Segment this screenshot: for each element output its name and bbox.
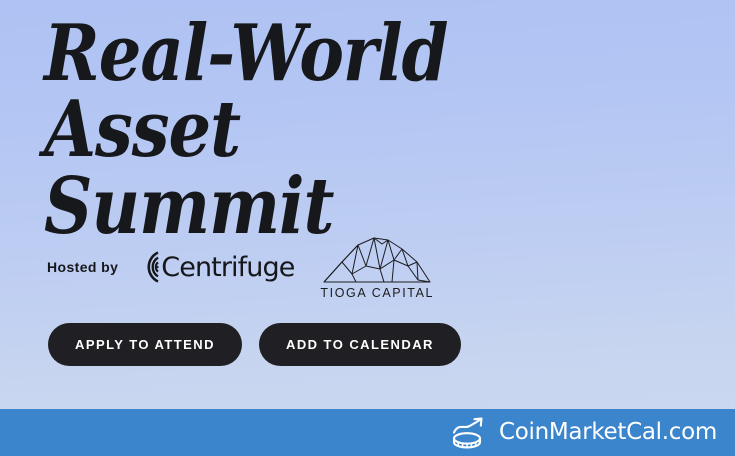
coinmarketcal-brand[interactable]: CoinMarketCal.com	[449, 416, 717, 450]
centrifuge-wordmark: Centrifuge	[161, 254, 294, 281]
cta-button-row: Apply to Attend Add to Calendar	[48, 323, 461, 366]
apply-to-attend-button[interactable]: Apply to Attend	[48, 323, 242, 366]
add-to-calendar-button[interactable]: Add to Calendar	[259, 323, 461, 366]
brand-name-label: CoinMarketCal.com	[499, 421, 717, 444]
tioga-mountain-icon	[322, 236, 432, 286]
page-title: Real-World Asset Summit	[44, 16, 620, 245]
partner-logo-centrifuge: Centrifuge	[132, 250, 294, 286]
tioga-wordmark: TIOGA CAPITAL	[320, 287, 434, 300]
partner-logo-tioga: TIOGA CAPITAL	[320, 236, 434, 300]
hosted-by-row: Hosted by Centrifuge	[47, 232, 434, 304]
event-banner-card: Real-World Asset Summit Hosted by Centri…	[0, 0, 735, 456]
hosted-by-label: Hosted by	[47, 259, 118, 277]
footer-bar: CoinMarketCal.com	[0, 409, 735, 456]
centrifuge-waves-icon	[132, 250, 162, 284]
coin-trend-icon	[449, 416, 489, 450]
